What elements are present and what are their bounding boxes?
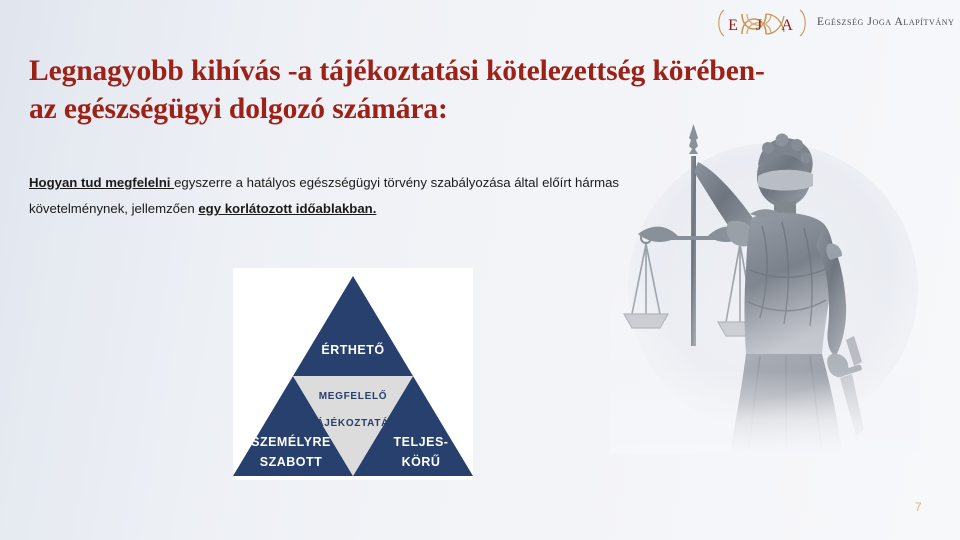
triangle-label-top: ÉRTHETŐ (321, 342, 384, 357)
triangle-label-center-2: TÁJÉKOZTATÁS (310, 416, 397, 429)
svg-text:E: E (728, 17, 738, 34)
svg-text:A: A (781, 17, 793, 34)
lady-justice-image (610, 118, 920, 454)
title-line-1: Legnagyobb kihívás -a tájékoztatási köte… (29, 53, 919, 91)
logo-org-name: Egészség Joga Alapítvány (817, 16, 955, 28)
triangle-label-center-1: MEGFELELŐ (319, 389, 388, 402)
triangle-segment-top (293, 276, 413, 376)
body-lead-emphasis: Hogyan tud megfelelni (29, 175, 174, 190)
body-tail-emphasis: egy korlátozott időablakban. (198, 201, 376, 216)
slide-canvas: E J A Egészség Joga Alapítvány Legnagyob… (0, 0, 960, 540)
triangle-label-bottom-left-1: SZEMÉLYRE (251, 434, 331, 449)
page-number: 7 (915, 500, 922, 514)
svg-text:J: J (756, 17, 762, 34)
triangle-diagram: ÉRTHETŐ MEGFELELŐ TÁJÉKOZTATÁS SZEMÉLYRE… (233, 268, 473, 480)
eja-monogram-icon: E J A (714, 6, 810, 40)
body-paragraph: Hogyan tud megfelelni egyszerre a hatály… (29, 170, 629, 223)
triangle-label-bottom-right-2: KÖRŰ (402, 454, 441, 469)
triangle-label-bottom-left-2: SZABOTT (260, 455, 323, 469)
triangle-label-bottom-right-1: TELJES- (394, 435, 449, 449)
triangle-diagram-card: ÉRTHETŐ MEGFELELŐ TÁJÉKOZTATÁS SZEMÉLYRE… (233, 268, 473, 480)
brand-logo: E J A Egészség Joga Alapítvány (714, 6, 952, 42)
